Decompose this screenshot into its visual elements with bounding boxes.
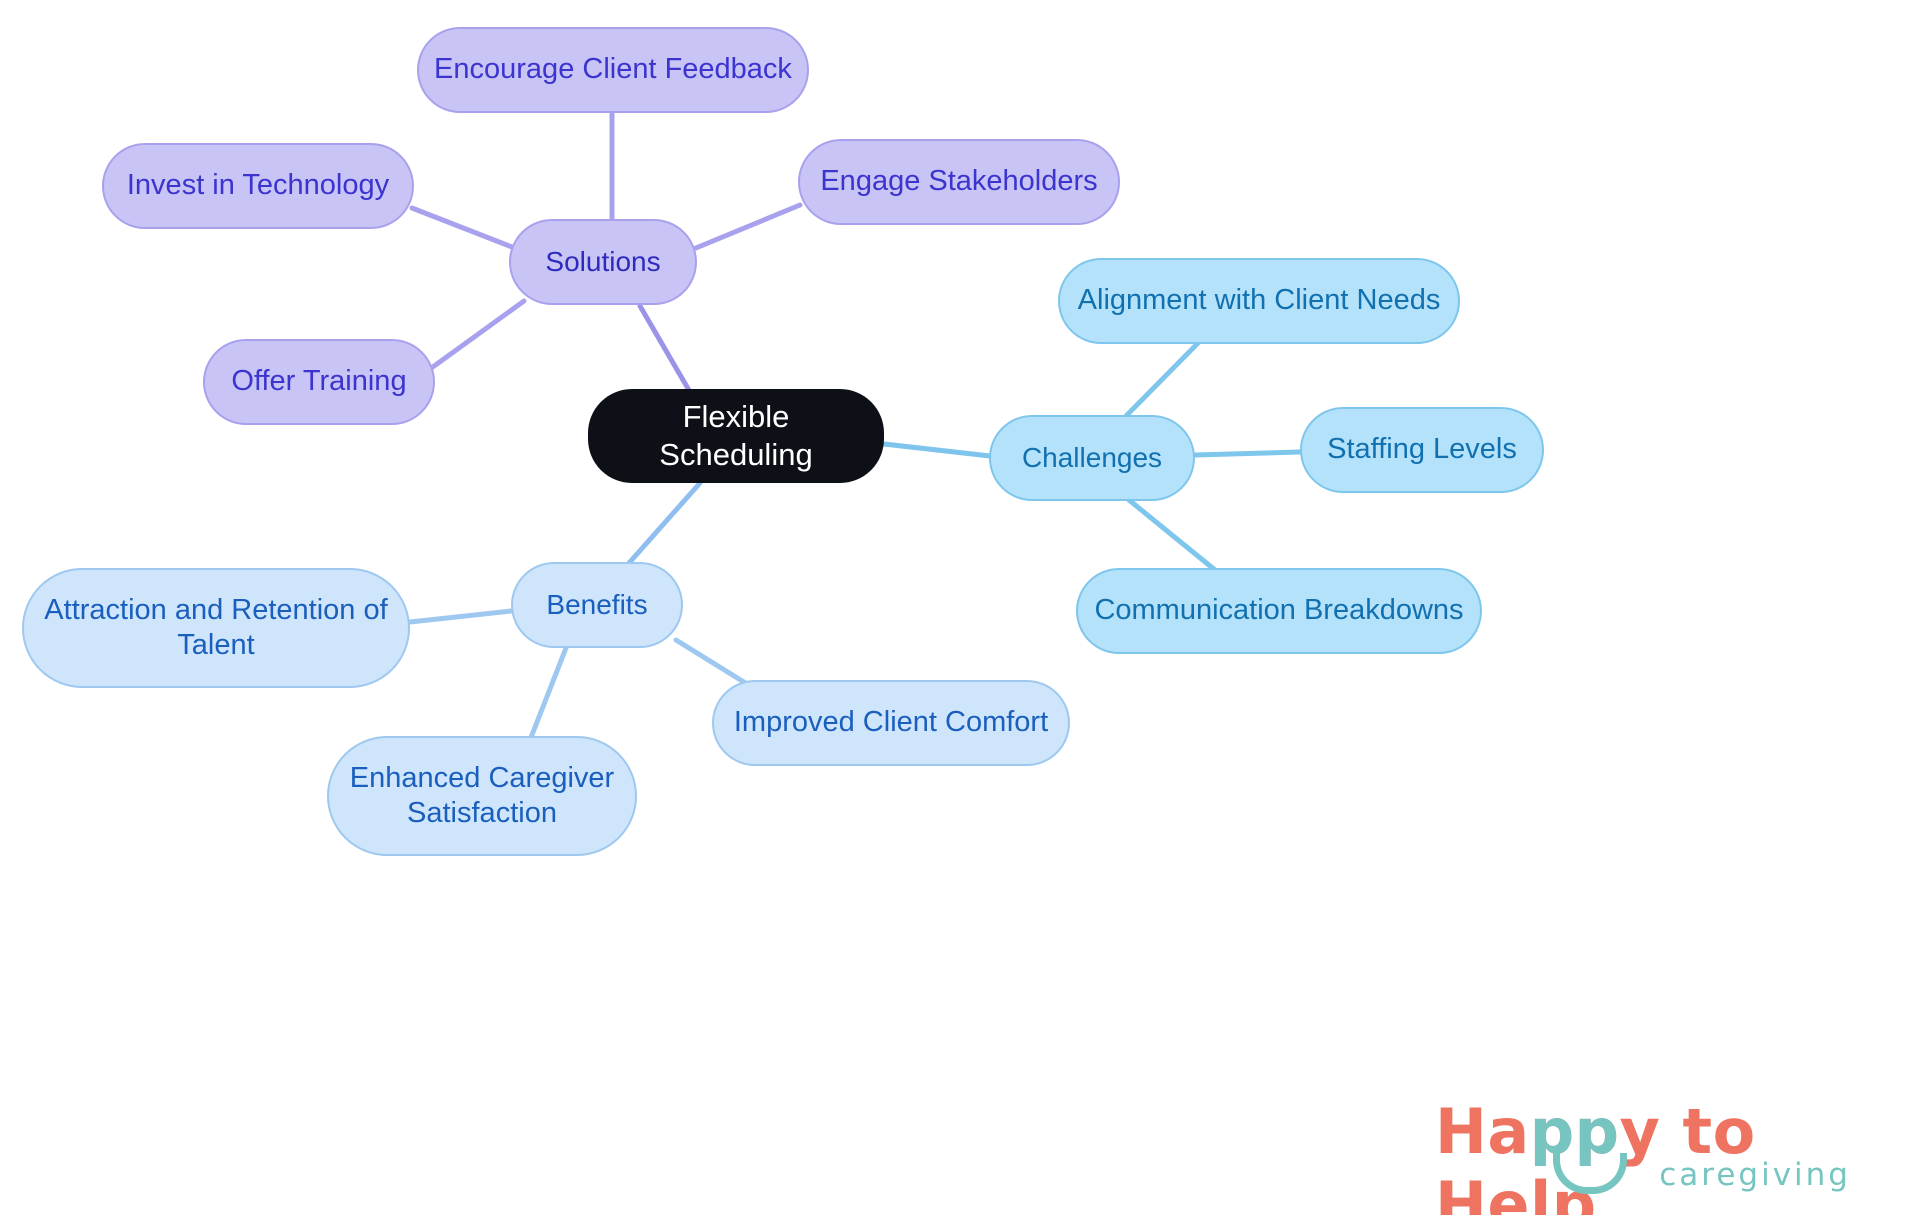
node-leaf-communication-breakdowns[interactable]: Communication Breakdowns [1076,568,1482,654]
edge-solutions-offer-training [430,301,524,369]
edge-challenges-alignment-with-client-needs [1126,341,1200,416]
edge-solutions-engage-stakeholders [696,205,800,248]
edge-root-benefits [629,483,700,563]
edge-solutions-invest-in-technology [412,208,512,247]
edge-challenges-communication-breakdowns [1129,500,1215,570]
node-leaf-encourage-client-feedback[interactable]: Encourage Client Feedback [417,27,809,113]
edge-root-solutions [640,306,690,392]
node-leaf-alignment-with-client-needs[interactable]: Alignment with Client Needs [1058,258,1460,344]
logo-tagline: caregiving [1659,1157,1851,1193]
node-leaf-improved-client-comfort[interactable]: Improved Client Comfort [712,680,1070,766]
node-leaf-attraction-and-retention-of-talent[interactable]: Attraction and Retention of Talent [22,568,410,688]
node-leaf-staffing-levels[interactable]: Staffing Levels [1300,407,1544,493]
edge-challenges-staffing-levels [1195,452,1300,455]
node-leaf-enhanced-caregiver-satisfaction[interactable]: Enhanced Caregiver Satisfaction [327,736,637,856]
node-leaf-offer-training[interactable]: Offer Training [203,339,435,425]
edge-benefits-enhanced-caregiver-satisfaction [530,648,566,740]
brand-logo: Happy to Help Happ caregiving [1435,1095,1855,1200]
node-branch-solutions[interactable]: Solutions [509,219,697,305]
node-leaf-engage-stakeholders[interactable]: Engage Stakeholders [798,139,1120,225]
node-leaf-invest-in-technology[interactable]: Invest in Technology [102,143,414,229]
node-root-flexible-scheduling[interactable]: Flexible Scheduling [588,389,884,483]
edge-benefits-attraction-and-retention-of-talent [410,611,511,622]
node-branch-benefits[interactable]: Benefits [511,562,683,648]
mindmap-canvas: Flexible Scheduling Solutions Encourage … [0,0,1920,1215]
node-branch-challenges[interactable]: Challenges [989,415,1195,501]
edge-root-challenges [884,444,990,456]
